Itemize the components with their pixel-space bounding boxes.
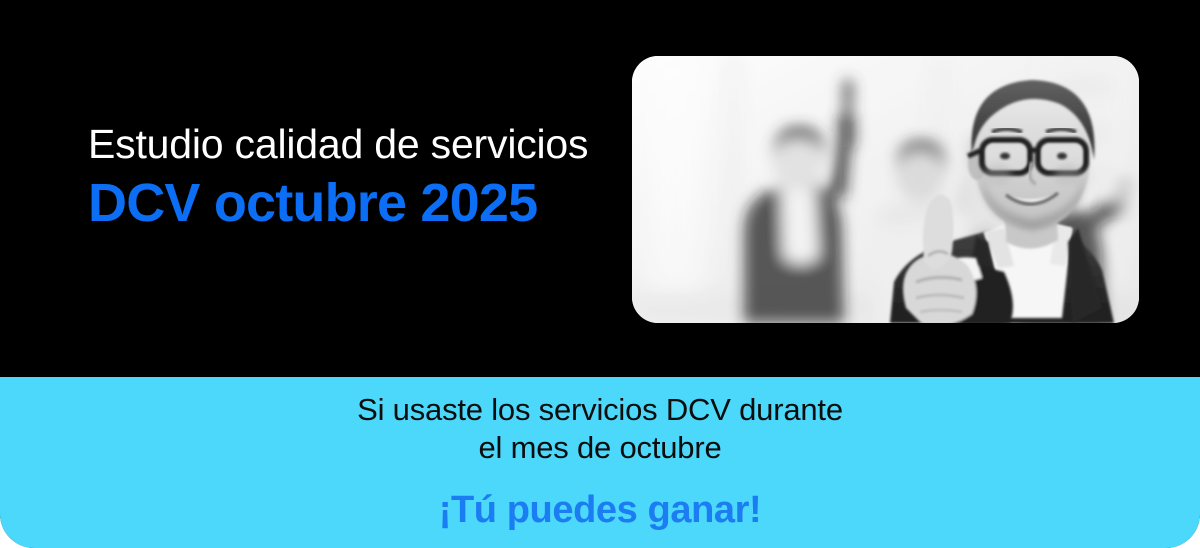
banner-bottom-section: Si usaste los servicios DCV durante el m… — [0, 377, 1200, 548]
photo-illustration — [632, 56, 1139, 323]
headline-block: Estudio calidad de servicios DCV octubre… — [88, 118, 608, 236]
banner-top-section: Estudio calidad de servicios DCV octubre… — [0, 0, 1200, 377]
promo-line-2: el mes de octubre — [0, 429, 1200, 467]
promo-line-1: Si usaste los servicios DCV durante — [0, 391, 1200, 429]
businessman-thumbs-up-photo — [632, 56, 1139, 323]
headline-subtitle: Estudio calidad de servicios — [88, 118, 608, 170]
promo-text-block: Si usaste los servicios DCV durante el m… — [0, 391, 1200, 532]
promo-banner: Estudio calidad de servicios DCV octubre… — [0, 0, 1200, 548]
headline-title: DCV octubre 2025 — [88, 170, 608, 236]
promo-cta-text: ¡Tú puedes ganar! — [0, 488, 1200, 532]
